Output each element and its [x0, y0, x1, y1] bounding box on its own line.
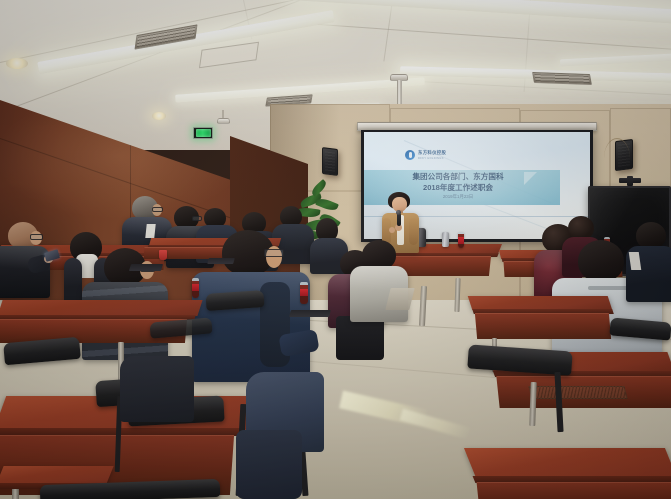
- presenter-hand-left: [389, 227, 395, 233]
- projector-mount-pole: [397, 80, 402, 106]
- exit-icon: [196, 129, 211, 137]
- microphone-head-icon: [396, 210, 401, 215]
- laptop: [129, 264, 163, 271]
- trousers: [336, 316, 384, 360]
- emergency-exit-sign: [193, 127, 213, 139]
- fire-sprinkler: [217, 118, 230, 124]
- presenter-arm-right: [409, 218, 418, 245]
- recessed-downlight: [152, 112, 166, 120]
- attendee-jeans-lower: [236, 430, 302, 499]
- shirt-collar: [145, 224, 155, 238]
- slide-logo-en: DFKY HOLDINGS: [418, 157, 444, 160]
- display-stand-post: [627, 176, 633, 186]
- wall-speaker-left: [322, 147, 338, 176]
- red-cup: [159, 250, 167, 260]
- conference-room-photo: 东方科仪控股 DFKY HOLDINGS 集团公司各部门、东方国科 2018年度…: [0, 0, 671, 499]
- desk-mesh-panel: [528, 386, 627, 399]
- speaker-cable: [604, 138, 630, 178]
- cola-bottle: [192, 278, 199, 298]
- slide-title-line1: 集团公司各部门、东方国科: [388, 172, 528, 181]
- steel-tumbler: [442, 232, 449, 247]
- slide-logo-cn: 东方科仪控股: [418, 150, 446, 156]
- tablet: [207, 258, 235, 264]
- laptop: [289, 310, 331, 317]
- cola-bottle: [300, 282, 308, 304]
- slide-title-line2: 2018年度工作述职会: [388, 183, 528, 192]
- cola-bottle: [458, 232, 464, 248]
- hvac-vent: [532, 72, 592, 85]
- attendee-trousers: [120, 356, 194, 422]
- company-logo-icon: [405, 150, 415, 160]
- recessed-downlight: [6, 58, 28, 69]
